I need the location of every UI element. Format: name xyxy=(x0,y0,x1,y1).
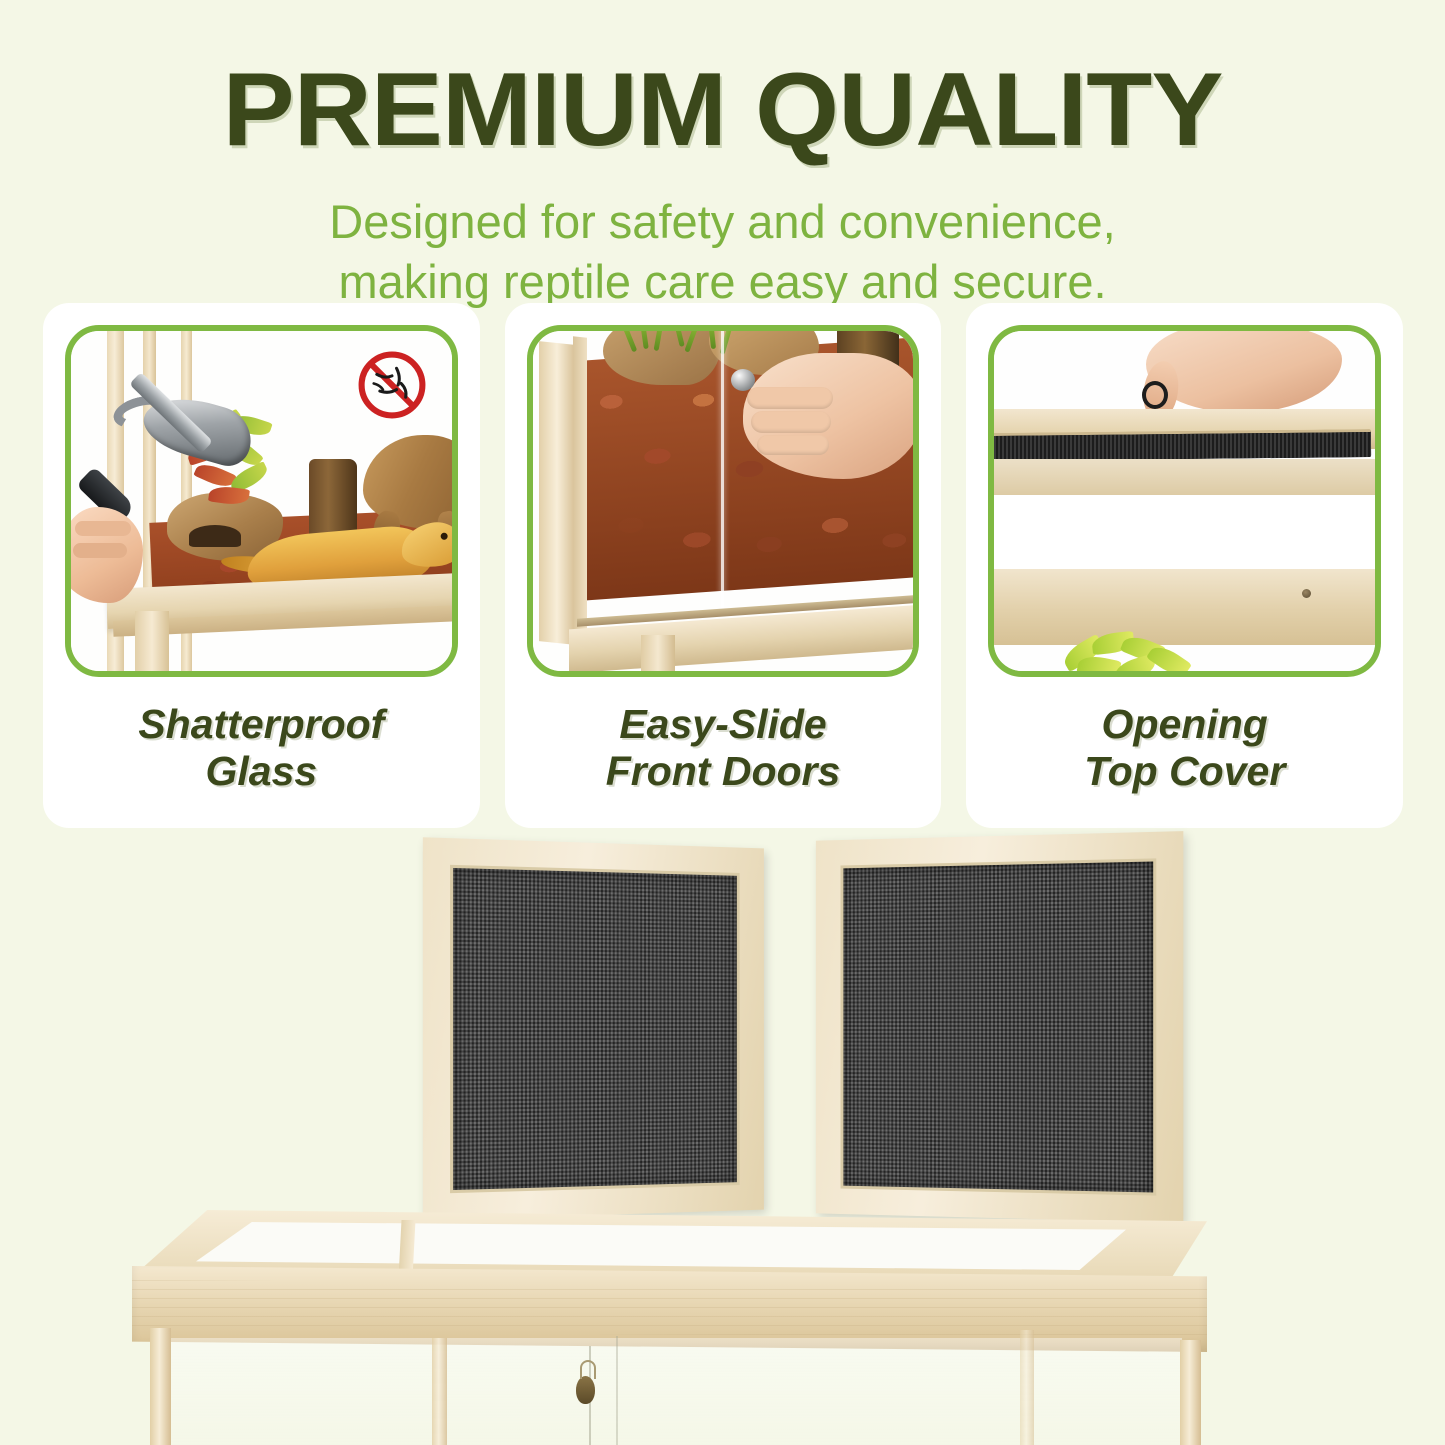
mesh-screen xyxy=(450,865,740,1193)
glass-door-edge xyxy=(721,331,724,611)
feature-caption: Easy-Slide Front Doors xyxy=(505,701,942,794)
page-title: PREMIUM QUALITY xyxy=(0,58,1445,162)
caption-line-2: Front Doors xyxy=(505,748,942,795)
page-subtitle: Designed for safety and convenience, mak… xyxy=(0,192,1445,312)
tank-front-left-post xyxy=(150,1328,171,1445)
hanging-wire xyxy=(616,1336,618,1445)
tank-front-right-post xyxy=(1180,1340,1201,1445)
photo-frame xyxy=(988,325,1381,677)
feature-caption: Opening Top Cover xyxy=(966,701,1403,794)
mesh-screen xyxy=(841,858,1157,1195)
photo-opening-top-cover xyxy=(994,331,1375,671)
feature-card-opening-top-cover[interactable]: Opening Top Cover xyxy=(966,303,1403,828)
wood-grain xyxy=(132,1280,1207,1338)
feature-card-shatterproof-glass[interactable]: Shatterproof Glass xyxy=(43,303,480,828)
photo-easy-slide-doors xyxy=(533,331,914,671)
mesh-panel-right[interactable] xyxy=(816,831,1183,1223)
photo-frame xyxy=(527,325,920,677)
caption-line-1: Opening xyxy=(966,701,1403,748)
door-knob[interactable] xyxy=(731,369,755,391)
hand xyxy=(743,353,913,479)
feature-caption: Shatterproof Glass xyxy=(43,701,480,794)
feature-card-row: Shatterproof Glass xyxy=(43,303,1403,828)
thermometer-icon xyxy=(576,1376,595,1404)
photo-shatterproof-glass xyxy=(71,331,452,671)
photo-frame xyxy=(65,325,458,677)
mesh-panel-left[interactable] xyxy=(423,837,764,1220)
caption-line-2: Glass xyxy=(43,748,480,795)
caption-line-1: Shatterproof xyxy=(43,701,480,748)
feature-card-easy-slide-front-doors[interactable]: Easy-Slide Front Doors xyxy=(505,303,942,828)
grass-decor xyxy=(621,331,751,357)
subtitle-line-1: Designed for safety and convenience, xyxy=(0,192,1445,252)
tank-back-left-post xyxy=(432,1338,447,1445)
no-crack-icon xyxy=(354,347,430,423)
screw-icon xyxy=(1302,589,1311,598)
tank-back-right-post xyxy=(1020,1330,1034,1445)
caption-line-1: Easy-Slide xyxy=(505,701,942,748)
hero-product-image xyxy=(0,828,1445,1445)
promo-page: PREMIUM QUALITY Designed for safety and … xyxy=(0,0,1445,1445)
plant-decor xyxy=(1052,629,1202,671)
mesh-top-cover xyxy=(994,429,1371,461)
caption-line-2: Top Cover xyxy=(966,748,1403,795)
